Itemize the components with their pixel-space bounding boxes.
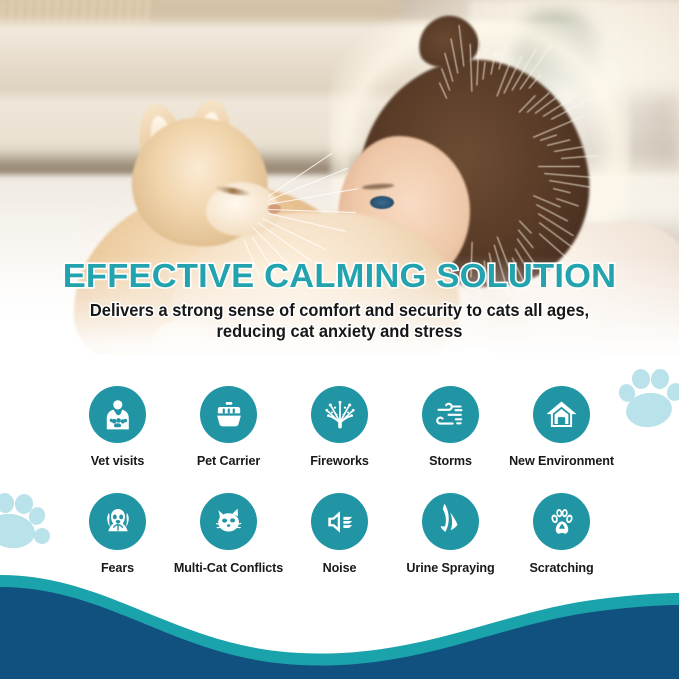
pet-carrier-icon-circle[interactable] — [200, 386, 257, 443]
grid-item-scratching[interactable]: Scratching — [506, 493, 617, 575]
promo-banner-card: EFFECTIVE CALMING SOLUTION Delivers a st… — [0, 0, 679, 679]
wind-storm-icon — [433, 397, 469, 433]
benefits-icon-grid: Vet visits — [0, 386, 679, 575]
speaker-noise-icon-circle[interactable] — [311, 493, 368, 550]
grid-item-fireworks[interactable]: Fireworks — [284, 386, 395, 468]
grid-item-noise[interactable]: Noise — [284, 493, 395, 575]
urine-spray-icon-circle[interactable] — [422, 493, 479, 550]
grid-item-label: Vet visits — [91, 454, 145, 468]
grid-item-label: Fireworks — [310, 454, 369, 468]
grid-item-multi-cat-conflicts[interactable]: Multi-Cat Conflicts — [173, 493, 284, 575]
grid-item-new-environment[interactable]: New Environment — [506, 386, 617, 468]
photo-toddler-eye — [370, 196, 394, 209]
wind-storm-icon-circle[interactable] — [422, 386, 479, 443]
pet-carrier-icon — [212, 398, 246, 432]
subheadline-block: Delivers a strong sense of comfort and s… — [20, 300, 658, 342]
grid-item-label: New Environment — [509, 454, 614, 468]
scared-dog-icon — [101, 505, 135, 539]
grid-item-fears[interactable]: Fears — [62, 493, 173, 575]
cat-face-icon-circle[interactable] — [200, 493, 257, 550]
vet-icon-circle[interactable] — [89, 386, 146, 443]
grid-item-storms[interactable]: Storms — [395, 386, 506, 468]
grid-item-urine-spraying[interactable]: Urine Spraying — [395, 493, 506, 575]
urine-spray-icon — [430, 501, 472, 543]
subheadline-line-2: reducing cat anxiety and stress — [20, 321, 658, 342]
paw-print-icon-circle[interactable] — [533, 493, 590, 550]
grid-item-label: Pet Carrier — [197, 454, 260, 468]
grid-item-pet-carrier[interactable]: Pet Carrier — [173, 386, 284, 468]
icon-row-1: Vet visits — [0, 386, 679, 468]
photo-bottom-edge — [0, 355, 679, 375]
fireworks-icon — [322, 397, 358, 433]
cat-face-icon — [211, 504, 247, 540]
fireworks-icon-circle[interactable] — [311, 386, 368, 443]
house-icon-circle[interactable] — [533, 386, 590, 443]
scared-dog-icon-circle[interactable] — [89, 493, 146, 550]
speaker-noise-icon — [323, 505, 357, 539]
headline-block: EFFECTIVE CALMING SOLUTION Delivers a st… — [0, 258, 679, 342]
subheadline-line-1: Delivers a strong sense of comfort and s… — [90, 300, 589, 320]
wave-footer — [0, 569, 679, 679]
grid-item-vet-visits[interactable]: Vet visits — [62, 386, 173, 468]
paw-print-icon — [545, 505, 579, 539]
icon-row-2: Fears — [0, 493, 679, 575]
grid-item-label: Storms — [429, 454, 472, 468]
headline-text: EFFECTIVE CALMING SOLUTION — [0, 258, 679, 296]
house-icon — [543, 396, 580, 433]
vet-icon — [100, 397, 136, 433]
